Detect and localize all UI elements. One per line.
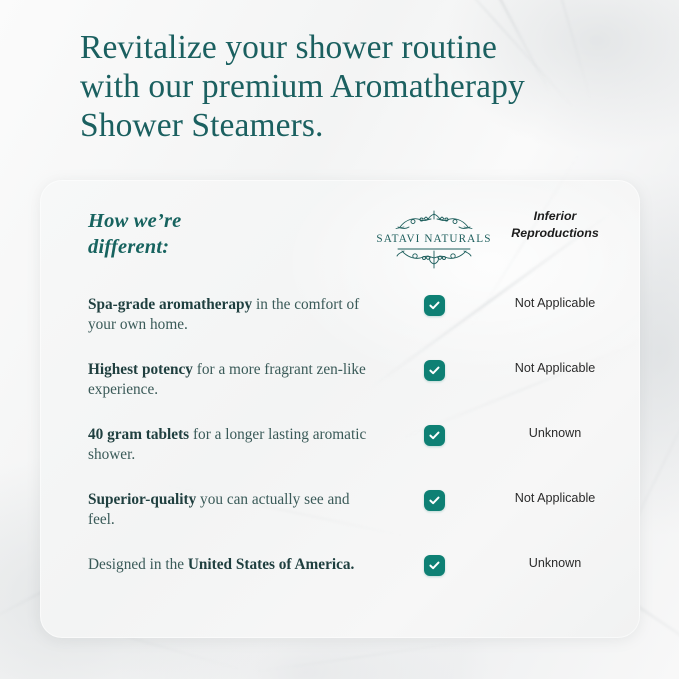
marble-background: Revitalize your shower routine with our … bbox=[0, 0, 679, 679]
check-icon bbox=[424, 295, 445, 316]
feature-cell: Superior-quality you can actually see an… bbox=[88, 490, 368, 529]
competitor-value: Unknown bbox=[480, 555, 630, 572]
check-icon bbox=[424, 555, 445, 576]
competitor-cell: Not Applicable bbox=[480, 490, 630, 507]
competitor-value: Not Applicable bbox=[480, 360, 630, 377]
competitor-cell: Not Applicable bbox=[480, 295, 630, 312]
comparison-header-row: How we’re different: bbox=[40, 208, 640, 284]
check-icon bbox=[424, 490, 445, 511]
competitor-title-line-1: Inferior bbox=[480, 208, 630, 225]
flourish-top-icon bbox=[388, 210, 480, 232]
headline-line-3: Shower Steamers. bbox=[80, 106, 620, 145]
competitor-cell: Not Applicable bbox=[480, 360, 630, 377]
how-title-line-2: different: bbox=[88, 234, 368, 260]
headline-line-2: with our premium Aromatherapy bbox=[80, 67, 620, 106]
competitor-title-line-2: Reproductions bbox=[480, 225, 630, 242]
competitor-value: Not Applicable bbox=[480, 295, 630, 312]
page-headline: Revitalize your shower routine with our … bbox=[80, 28, 620, 145]
headline-line-1: Revitalize your shower routine bbox=[80, 28, 620, 67]
competitor-cell: Unknown bbox=[480, 425, 630, 442]
feature-cell: Designed in the United States of America… bbox=[88, 555, 368, 575]
table-row: Designed in the United States of America… bbox=[40, 555, 640, 620]
competitor-value: Unknown bbox=[480, 425, 630, 442]
marble-vein bbox=[251, 638, 489, 673]
feature-text: Designed in the United States of America… bbox=[88, 555, 368, 575]
feature-text: Superior-quality you can actually see an… bbox=[88, 490, 368, 529]
competitor-title: Inferior Reproductions bbox=[480, 208, 630, 242]
flourish-bottom-icon bbox=[388, 246, 480, 270]
header-cell-feature: How we’re different: bbox=[88, 208, 368, 260]
feature-text: 40 gram tablets for a longer lasting aro… bbox=[88, 425, 368, 464]
how-we-are-different-title: How we’re different: bbox=[88, 208, 368, 260]
table-row: Highest potency for a more fragrant zen-… bbox=[40, 360, 640, 425]
how-title-line-1: How we’re bbox=[88, 208, 368, 234]
feature-cell: Spa-grade aromatherapy in the comfort of… bbox=[88, 295, 368, 334]
table-row: 40 gram tablets for a longer lasting aro… bbox=[40, 425, 640, 490]
table-row: Superior-quality you can actually see an… bbox=[40, 490, 640, 555]
check-icon bbox=[424, 425, 445, 446]
competitor-value: Not Applicable bbox=[480, 490, 630, 507]
check-icon bbox=[424, 360, 445, 381]
feature-cell: Highest potency for a more fragrant zen-… bbox=[88, 360, 368, 399]
feature-text: Highest potency for a more fragrant zen-… bbox=[88, 360, 368, 399]
comparison-card: How we’re different: bbox=[40, 180, 640, 638]
feature-text: Spa-grade aromatherapy in the comfort of… bbox=[88, 295, 368, 334]
header-cell-competitor: Inferior Reproductions bbox=[480, 208, 630, 242]
table-row: Spa-grade aromatherapy in the comfort of… bbox=[40, 295, 640, 360]
competitor-cell: Unknown bbox=[480, 555, 630, 572]
feature-cell: 40 gram tablets for a longer lasting aro… bbox=[88, 425, 368, 464]
